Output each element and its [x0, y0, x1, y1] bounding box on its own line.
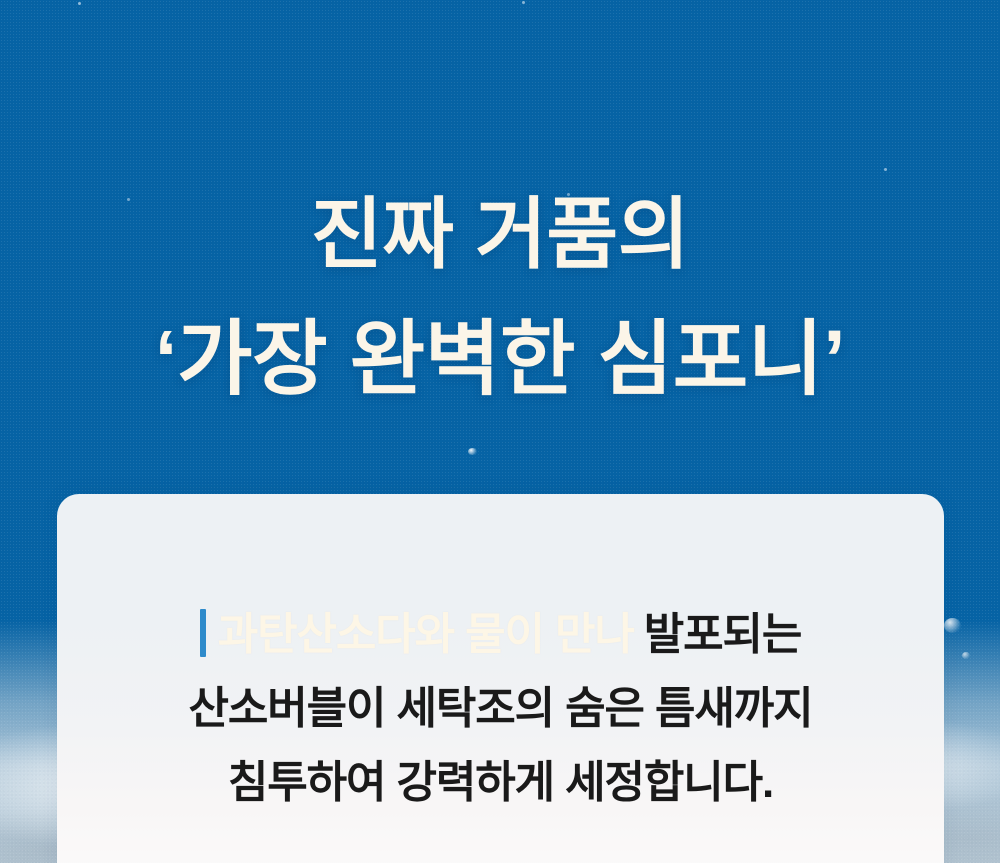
body-line-1: 과탄산소다와 물이 만나발포되는 — [57, 598, 944, 672]
headline-line-2: ‘가장 완벽한 심포니’ — [0, 312, 1000, 408]
body-line-3: 침투하여 강력하게 세정합니다. — [57, 746, 944, 820]
body-line-1-rest: 발포되는 — [644, 610, 802, 659]
description-card: 과탄산소다와 물이 만나발포되는 산소버블이 세탁조의 숨은 틈새까지 침투하여… — [57, 494, 944, 863]
body-line-2: 산소버블이 세탁조의 숨은 틈새까지 — [57, 672, 944, 746]
description-body: 과탄산소다와 물이 만나발포되는 산소버블이 세탁조의 숨은 틈새까지 침투하여… — [57, 598, 944, 820]
headline-line-1: 진짜 거품의 — [0, 186, 1000, 282]
accent-bar-icon — [200, 609, 206, 657]
body-highlight-phrase: 과탄산소다와 물이 만나 — [218, 610, 634, 659]
headline: 진짜 거품의 ‘가장 완벽한 심포니’ — [0, 186, 1000, 408]
promo-banner: 진짜 거품의 ‘가장 완벽한 심포니’ 과탄산소다와 물이 만나발포되는 산소버… — [0, 0, 1000, 863]
